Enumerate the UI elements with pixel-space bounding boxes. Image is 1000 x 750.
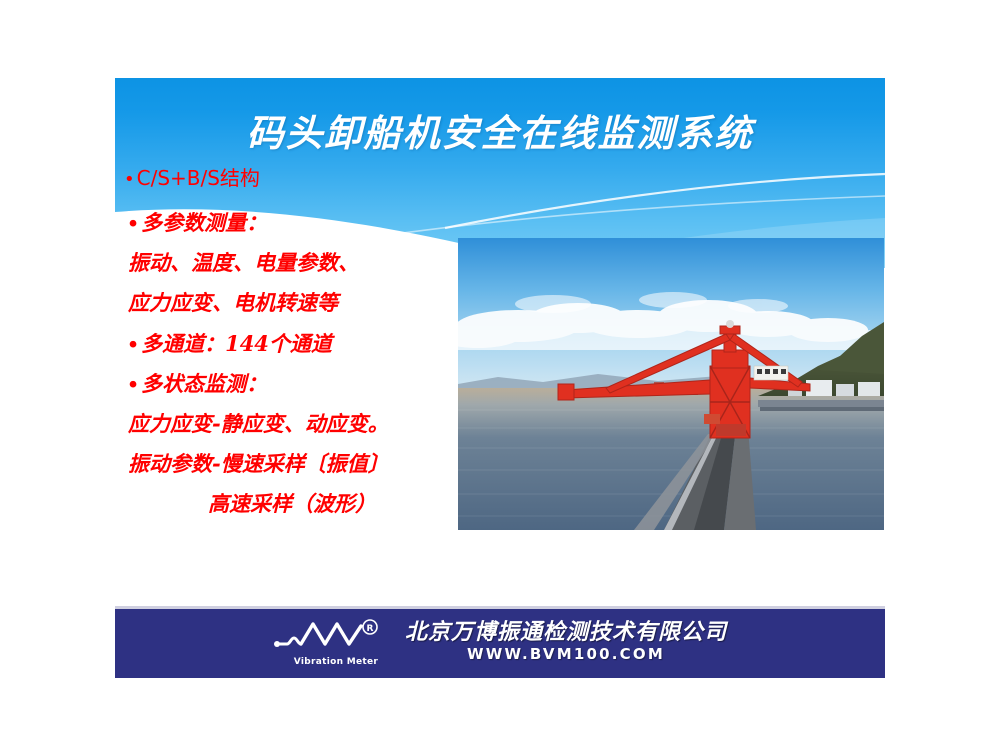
list-item: 多通道：144个通道 <box>127 333 332 355</box>
list-item: 应力应变-静应变、动应变。 <box>128 413 389 434</box>
list-item: 多状态监测： <box>127 373 267 395</box>
list-item: 振动参数-慢速采样〔振值〕 <box>128 453 389 474</box>
page-title: 码头卸船机安全在线监测系统 <box>115 103 885 157</box>
vibration-meter-logo: R Vibration Meter <box>273 618 391 666</box>
list-item: C/S+B/S结构 <box>124 168 260 189</box>
company-website[interactable]: WWW.BVM100.COM <box>467 647 665 663</box>
photo-illustration <box>458 238 884 530</box>
list-item: 应力应变、电机转速等 <box>128 292 338 313</box>
footer-bar: R Vibration Meter 北京万博振通检测技术有限公司 WWW.BVM… <box>115 606 885 678</box>
company-name: 北京万博振通检测技术有限公司 <box>405 621 727 644</box>
list-item: 振动、温度、电量参数、 <box>128 252 359 273</box>
site-photo <box>458 238 884 530</box>
list-item: 多参数测量： <box>127 212 267 234</box>
logo-caption: Vibration Meter <box>281 657 391 667</box>
presentation-slide: 码头卸船机安全在线监测系统 C/S+B/S结构 多参数测量： 振动、温度、电量参… <box>0 0 1000 750</box>
footer-content: R Vibration Meter 北京万博振通检测技术有限公司 WWW.BVM… <box>115 609 885 675</box>
footer-text-group: 北京万博振通检测技术有限公司 WWW.BVM100.COM <box>405 621 727 663</box>
svg-text:R: R <box>367 624 374 634</box>
list-item: 高速采样（波形） <box>208 493 376 514</box>
waveform-icon: R <box>273 618 391 658</box>
